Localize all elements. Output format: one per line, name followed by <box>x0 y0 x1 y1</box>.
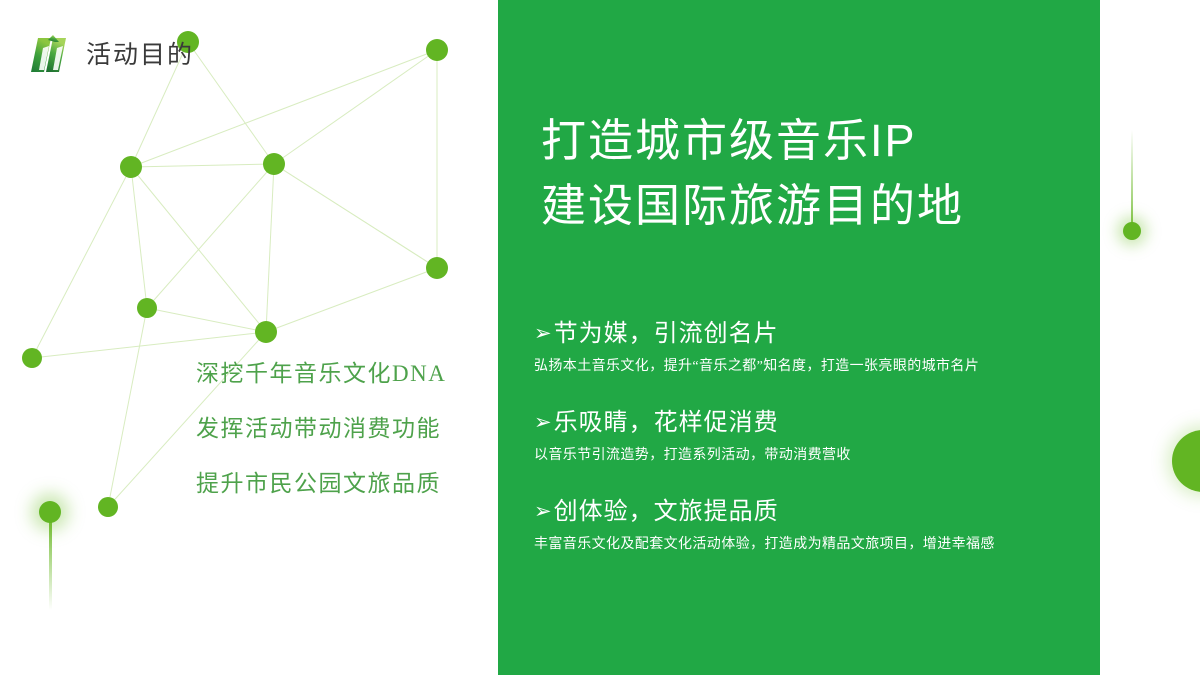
network-node-dot <box>22 348 42 368</box>
network-edge <box>131 167 147 308</box>
bullet-item: ➢乐吸睛，花样促消费 以音乐节引流造势，打造系列活动，带动消费营收 <box>534 405 1074 468</box>
bullet-list: ➢节为媒，引流创名片 弘扬本土音乐文化，提升“音乐之都”知名度，打造一张亮眼的城… <box>534 316 1074 556</box>
slide-canvas: 活动目的 深挖千年音乐文化DNA 发挥活动带动消费功能 提升市民公园文旅品质 打… <box>0 0 1200 675</box>
left-point-item: 发挥活动带动消费功能 <box>196 417 446 440</box>
panel-heading: 打造城市级音乐IP 建设国际旅游目的地 <box>541 108 964 239</box>
bullet-item: ➢节为媒，引流创名片 弘扬本土音乐文化，提升“音乐之都”知名度，打造一张亮眼的城… <box>534 316 1074 379</box>
bullet-title: ➢创体验，文旅提品质 <box>534 494 1074 530</box>
bullet-title: ➢节为媒，引流创名片 <box>534 316 1074 352</box>
arrow-bullet-icon: ➢ <box>534 318 553 350</box>
green-content-panel: 打造城市级音乐IP 建设国际旅游目的地 ➢节为媒，引流创名片 弘扬本土音乐文化，… <box>498 0 1100 675</box>
network-node-dot <box>426 257 448 279</box>
left-point-item: 深挖千年音乐文化DNA <box>196 362 446 385</box>
bullet-description: 弘扬本土音乐文化，提升“音乐之都”知名度，打造一张亮眼的城市名片 <box>534 355 1074 379</box>
network-edge <box>32 167 131 358</box>
network-edge <box>131 164 274 167</box>
right-glow-dot <box>1123 222 1141 240</box>
network-node-dot <box>263 153 285 175</box>
network-edge <box>108 308 147 507</box>
arrow-bullet-icon: ➢ <box>534 407 553 439</box>
network-edge <box>274 164 437 268</box>
bullet-item: ➢创体验，文旅提品质 丰富音乐文化及配套文化活动体验，打造成为精品文旅项目，增进… <box>534 494 1074 557</box>
bottom-left-stem-line <box>49 518 52 610</box>
panel-heading-line-1: 打造城市级音乐IP <box>541 108 964 173</box>
network-edge <box>147 308 266 332</box>
network-node-dot <box>120 156 142 178</box>
bottom-left-glow-dot <box>39 501 61 523</box>
network-edge <box>147 164 274 308</box>
network-edge <box>274 164 437 268</box>
bullet-title-text: 节为媒，引流创名片 <box>554 320 779 347</box>
network-edge <box>266 268 437 332</box>
network-edge <box>131 167 266 332</box>
page-title: 活动目的 <box>86 43 194 68</box>
left-point-item: 提升市民公园文旅品质 <box>196 472 446 495</box>
network-node-dot <box>426 39 448 61</box>
bullet-title: ➢乐吸睛，花样促消费 <box>534 405 1074 441</box>
double-slash-logo-icon <box>26 34 70 76</box>
network-graph-decoration <box>0 0 500 675</box>
network-node-dot <box>137 298 157 318</box>
network-edge <box>266 164 274 332</box>
panel-heading-line-2: 建设国际旅游目的地 <box>541 173 964 238</box>
left-point-list: 深挖千年音乐文化DNA 发挥活动带动消费功能 提升市民公园文旅品质 <box>196 362 446 495</box>
bullet-title-text: 创体验，文旅提品质 <box>554 498 779 525</box>
right-stem-line <box>1131 130 1133 230</box>
bullet-title-text: 乐吸睛，花样促消费 <box>554 409 779 436</box>
arrow-bullet-icon: ➢ <box>534 496 553 528</box>
right-edge-circle-decoration <box>1172 430 1200 492</box>
bullet-description: 丰富音乐文化及配套文化活动体验，打造成为精品文旅项目，增进幸福感 <box>534 533 1074 557</box>
network-node-dot <box>98 497 118 517</box>
brand-header: 活动目的 <box>26 34 194 76</box>
bullet-description: 以音乐节引流造势，打造系列活动，带动消费营收 <box>534 444 1074 468</box>
network-edge <box>32 332 266 358</box>
network-edge <box>274 50 437 164</box>
network-edge <box>188 42 274 164</box>
network-node-dot <box>255 321 277 343</box>
